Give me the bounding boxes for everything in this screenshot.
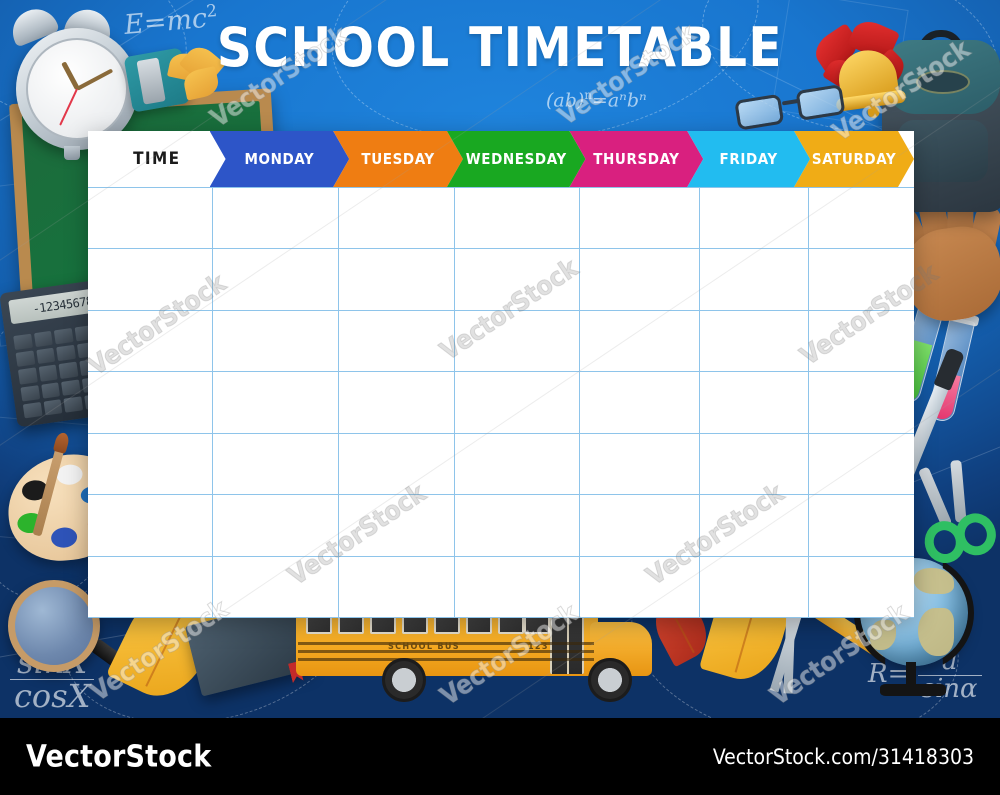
- column-header-label: WEDNESDAY: [466, 150, 567, 168]
- pencil-shavings-icon: [163, 43, 229, 106]
- column-header-label: TIME: [133, 149, 180, 169]
- scissors-icon: [907, 455, 1000, 571]
- vectorstock-url: VectorStock.com/31418303: [713, 745, 974, 769]
- column-header-label: SATURDAY: [812, 150, 896, 168]
- eyeglasses-icon: [734, 79, 851, 136]
- bus-number-label: 123: [528, 642, 549, 652]
- grid-column-line: [808, 187, 809, 618]
- poster-canvas: E=mc2 (ab)n=aⁿbⁿ sinX cosX R= a sinα: [0, 0, 1000, 795]
- vectorstock-brand: VectorStock: [26, 739, 211, 774]
- column-header-label: TUESDAY: [361, 150, 434, 168]
- column-header-label: FRIDAY: [720, 150, 778, 168]
- column-header-wednesday[interactable]: WEDNESDAY: [447, 131, 586, 187]
- column-header-label: MONDAY: [245, 150, 315, 168]
- watermark-footer: VectorStock VectorStock.com/31418303: [0, 718, 1000, 795]
- column-header-tuesday[interactable]: TUESDAY: [333, 131, 463, 187]
- column-header-thursday[interactable]: THURSDAY: [570, 131, 704, 187]
- grid-column-line: [338, 187, 339, 618]
- timetable-grid: [88, 187, 914, 618]
- grid-column-line: [699, 187, 700, 618]
- column-header-monday[interactable]: MONDAY: [210, 131, 350, 187]
- timetable-sheet: TIME MONDAY TUESDAY WEDNESDAY THURSDAY F…: [88, 131, 914, 618]
- formula-power-of-product: (ab)n=aⁿbⁿ: [546, 88, 647, 111]
- grid-column-line: [579, 187, 580, 618]
- column-header-time[interactable]: TIME: [88, 131, 226, 187]
- poster-background: E=mc2 (ab)n=aⁿbⁿ sinX cosX R= a sinα: [0, 0, 1000, 718]
- column-header-friday[interactable]: FRIDAY: [687, 131, 810, 187]
- timetable-header-row: TIME MONDAY TUESDAY WEDNESDAY THURSDAY F…: [88, 131, 914, 187]
- grid-column-line: [212, 187, 213, 618]
- column-header-label: THURSDAY: [593, 150, 679, 168]
- bus-side-label: SCHOOL BUS: [388, 642, 460, 652]
- grid-column-line: [454, 187, 455, 618]
- column-header-saturday[interactable]: SATURDAY: [794, 131, 914, 187]
- watermark: VectorStock: [553, 18, 701, 132]
